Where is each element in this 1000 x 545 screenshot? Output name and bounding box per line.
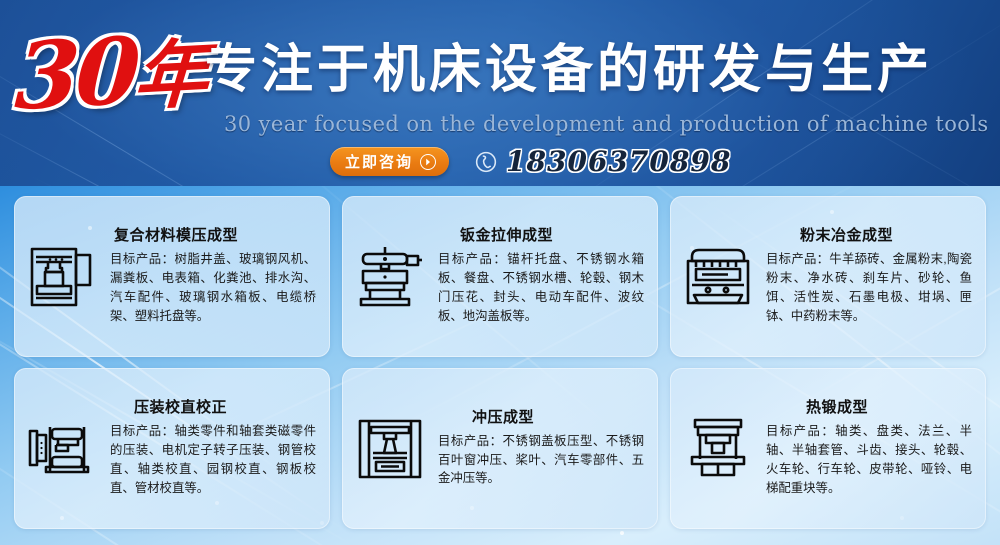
anniversary-unit: 年 [131,31,206,121]
card-title: 钣金拉伸成型 [438,227,644,245]
page-title: 专注于机床设备的研发与生产 [205,44,933,96]
stretch-forming-machine-icon [352,239,428,315]
forging-press-machine-icon [680,411,756,487]
card-description: 目标产品：轴类零件和轴套类磁零件的压装、电机定子转子压装、钢管校直、轴类校直、园… [110,422,316,497]
hydraulic-press-machine-icon [24,239,100,315]
card-description: 目标产品：不锈钢盖板压型、不锈钢百叶窗冲压、桨叶、汽车零部件、五金冲压等。 [438,432,644,489]
product-card-grid: 复合材料模压成型 目标产品：树脂井盖、玻璃钢风机、漏粪板、电表箱、化粪池、排水沟… [0,186,1000,545]
cta-row: 立即咨询 18306370898 [330,145,731,178]
card-title: 压装校直校正 [110,399,316,417]
consult-now-label: 立即咨询 [345,151,413,172]
card-description: 目标产品：树脂井盖、玻璃钢风机、漏粪板、电表箱、化粪池、排水沟、汽车配件、玻璃钢… [110,250,316,325]
product-card-hot-forging-forming[interactable]: 热锻成型 目标产品：轴类、盘类、法兰、半轴、半轴套管、斗齿、接头、轮毂、火车轮、… [670,368,986,529]
card-body: 冲压成型 目标产品：不锈钢盖板压型、不锈钢百叶窗冲压、桨叶、汽车零部件、五金冲压… [438,409,644,489]
card-title: 冲压成型 [438,409,644,427]
card-description: 目标产品：牛羊舔砖、金属粉末,陶瓷粉末、净水砖、刹车片、砂轮、鱼饵、活性炭、石墨… [766,250,972,325]
card-title: 粉末冶金成型 [766,227,972,245]
card-body: 粉末冶金成型 目标产品：牛羊舔砖、金属粉末,陶瓷粉末、净水砖、刹车片、砂轮、鱼饵… [766,227,972,325]
anniversary-logo: 30年 [13,21,207,123]
card-title: 热锻成型 [766,399,972,417]
powder-metallurgy-press-icon [680,239,756,315]
product-card-powder-metallurgy-forming[interactable]: 粉末冶金成型 目标产品：牛羊舔砖、金属粉末,陶瓷粉末、净水砖、刹车片、砂轮、鱼饵… [670,196,986,357]
phone-contact[interactable]: 18306370898 [475,145,731,178]
product-card-press-fit-straightening[interactable]: 压装校直校正 目标产品：轴类零件和轴套类磁零件的压装、电机定子转子压装、钢管校直… [14,368,330,529]
product-card-sheet-metal-stretch-forming[interactable]: 钣金拉伸成型 目标产品：锚杆托盘、不锈钢水箱板、餐盘、不锈钢水槽、轮毂、钢木门压… [342,196,658,357]
card-body: 钣金拉伸成型 目标产品：锚杆托盘、不锈钢水箱板、餐盘、不锈钢水槽、轮毂、钢木门压… [438,227,644,325]
banner-header: 30年 专注于机床设备的研发与生产 30 year focused on the… [0,0,1000,186]
card-body: 复合材料模压成型 目标产品：树脂井盖、玻璃钢风机、漏粪板、电表箱、化粪池、排水沟… [110,227,316,325]
product-card-stamping-forming[interactable]: 冲压成型 目标产品：不锈钢盖板压型、不锈钢百叶窗冲压、桨叶、汽车零部件、五金冲压… [342,368,658,529]
subtitle-english: 30 year focused on the development and p… [224,112,989,136]
phone-icon [475,151,497,173]
promo-banner: 30年 专注于机床设备的研发与生产 30 year focused on the… [0,0,1000,545]
product-card-composite-compression-molding[interactable]: 复合材料模压成型 目标产品：树脂井盖、玻璃钢风机、漏粪板、电表箱、化粪池、排水沟… [14,196,330,357]
horizontal-press-machine-icon [24,411,100,487]
stamping-press-machine-icon [352,411,428,487]
anniversary-number: 30 [13,17,139,131]
card-description: 目标产品：锚杆托盘、不锈钢水箱板、餐盘、不锈钢水槽、轮毂、钢木门压花、封头、电动… [438,250,644,325]
card-title: 复合材料模压成型 [110,227,316,245]
card-description: 目标产品：轴类、盘类、法兰、半轴、半轴套管、斗齿、接头、轮毂、火车轮、行车轮、皮… [766,422,972,497]
consult-now-button[interactable]: 立即咨询 [330,147,449,176]
card-body: 压装校直校正 目标产品：轴类零件和轴套类磁零件的压装、电机定子转子压装、钢管校直… [110,399,316,497]
phone-number: 18306370898 [506,145,731,178]
cards-section: 复合材料模压成型 目标产品：树脂井盖、玻璃钢风机、漏粪板、电表箱、化粪池、排水沟… [0,186,1000,545]
arrow-right-icon [420,154,436,170]
card-body: 热锻成型 目标产品：轴类、盘类、法兰、半轴、半轴套管、斗齿、接头、轮毂、火车轮、… [766,399,972,497]
